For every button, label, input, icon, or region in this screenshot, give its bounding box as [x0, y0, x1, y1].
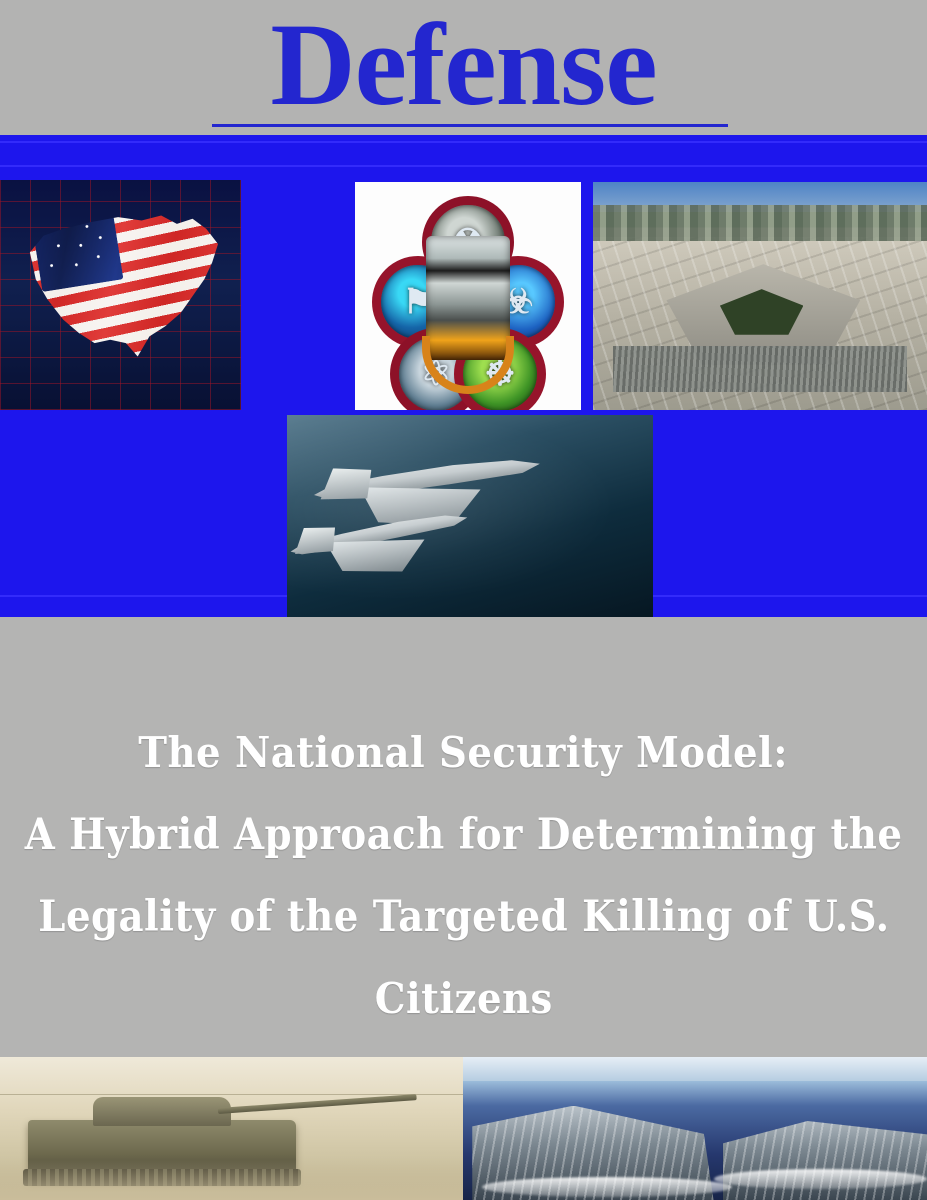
flag-wave-shading — [24, 202, 220, 370]
tank-turret — [93, 1097, 232, 1126]
us-map-flag-image — [0, 180, 241, 410]
fighter-jets-image — [287, 415, 653, 617]
pentagon-skyline — [593, 205, 927, 241]
header-underline — [212, 124, 728, 127]
flag-silhouette — [24, 202, 220, 370]
cbrn-emblem-image: ☢ ⚑ ☣ ⚛ ☸ — [355, 182, 581, 410]
ship-wake-right — [714, 1169, 927, 1189]
ship-wake-left — [482, 1177, 733, 1197]
collage-band: ☢ ⚑ ☣ ⚛ ☸ — [0, 135, 927, 617]
pentagon-parking-lot — [613, 346, 907, 392]
sea-sky — [463, 1057, 927, 1081]
battle-tank-image — [0, 1057, 463, 1200]
naval-carriers-image — [463, 1057, 927, 1200]
header-band: Defense — [0, 0, 927, 135]
tank-dust-cloud — [0, 1160, 463, 1200]
book-cover: Defense ☢ ⚑ ☣ — [0, 0, 927, 1200]
emblem-outer-ring — [370, 195, 566, 397]
tank-gun-barrel — [217, 1095, 416, 1115]
emblem-graphic: ☢ ⚑ ☣ ⚛ ☸ — [370, 196, 566, 396]
book-title: The National Security Model: A Hybrid Ap… — [0, 620, 927, 1056]
jets-haze — [287, 415, 653, 617]
pentagon-aerial-image — [593, 182, 927, 410]
title-line-1: The National Security Model: — [139, 712, 789, 794]
title-line-2: A Hybrid Approach for Determining the — [25, 794, 903, 876]
footer-image-strip — [0, 1057, 927, 1200]
title-line-3: Legality of the Targeted Killing of U.S. — [38, 876, 889, 958]
publisher-title: Defense — [0, 6, 927, 124]
title-line-4: Citizens — [374, 958, 552, 1040]
